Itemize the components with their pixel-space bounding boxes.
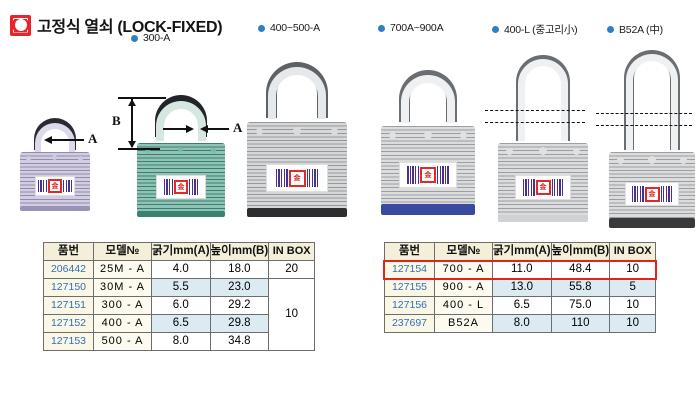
table-row[interactable]: 127155900 - A13.055.85 [385, 279, 656, 297]
plate-bars [407, 166, 419, 183]
plate-bars [276, 169, 288, 188]
rivet [573, 148, 580, 155]
col-header-model: 모델№ [94, 243, 152, 261]
cell-thickness: 8.0 [493, 315, 552, 333]
cell-part-no: 127152 [44, 315, 94, 333]
brand-plate: 金 [266, 164, 328, 192]
dim-line-a1 [49, 139, 84, 141]
table-row[interactable]: 20644225M - A4.018.020 [44, 261, 315, 279]
specs-table-left: 품번 모델№ 굵기mm(A) 높이mm(B) IN BOX 20644225M … [43, 242, 315, 351]
rivet [506, 148, 513, 155]
dim-arrow-a1 [44, 136, 52, 144]
cell-part-no: 127151 [44, 297, 94, 315]
plate-bars [307, 169, 319, 188]
cell-height: 48.4 [551, 261, 610, 279]
brand-emblem-icon: 金 [536, 180, 551, 195]
cell-thickness: 6.0 [152, 297, 211, 315]
dim-line-b [131, 99, 133, 147]
dim-tick-top-b [118, 97, 166, 99]
bullet-dot-icon [131, 35, 138, 42]
cell-in-box: 5 [610, 279, 656, 297]
lock-base [609, 218, 695, 228]
brand-plate: 金 [35, 176, 75, 196]
page-title: 고정식 열쇠 (LOCK-FIXED) [37, 13, 222, 37]
padlock-image-green: 金 [131, 95, 231, 230]
shackle-highlight [518, 59, 568, 141]
table-row[interactable]: 127156400 - L6.575.010 [385, 297, 656, 315]
cell-part-no: 127150 [44, 279, 94, 297]
cell-model: B52A [435, 315, 493, 333]
cell-model: 400 - A [94, 315, 152, 333]
plate-bars [164, 179, 173, 195]
cell-height: 23.0 [210, 279, 269, 297]
cell-thickness: 5.5 [152, 279, 211, 297]
cell-in-box: 10 [610, 297, 656, 315]
break-line-upper-b52a [596, 113, 692, 114]
lock-base [247, 208, 347, 217]
col-header-model: 모델№ [435, 243, 493, 261]
cell-thickness: 4.0 [152, 261, 211, 279]
rivet [331, 128, 338, 135]
table-row[interactable]: 127154700 - A11.048.410 [385, 261, 656, 279]
cell-part-no: 237697 [385, 315, 435, 333]
col-header-thickness: 굵기mm(A) [493, 243, 552, 261]
rivet [460, 132, 467, 139]
cell-thickness: 8.0 [152, 333, 211, 351]
table-row[interactable]: 237697B52A8.011010 [385, 315, 656, 333]
plate-bars [189, 179, 198, 195]
cell-model: 25M - A [94, 261, 152, 279]
dim-label-b: B [112, 113, 121, 129]
cell-thickness: 11.0 [493, 261, 552, 279]
table-body: 127154700 - A11.048.410127155900 - A13.0… [385, 261, 656, 333]
bullet-dot-icon [378, 25, 385, 32]
dim-label-a1: A [88, 131, 97, 147]
cell-model: 900 - A [435, 279, 493, 297]
cell-height: 29.2 [210, 297, 269, 315]
dim-arrow-a2-right [186, 125, 194, 133]
group-label-text: 300-A [143, 32, 170, 44]
cell-part-no: 127155 [385, 279, 435, 297]
cell-in-box: 10 [610, 315, 656, 333]
plate-bars [632, 186, 644, 202]
bullet-dot-icon [607, 26, 614, 33]
rivet [648, 156, 656, 164]
table-row[interactable]: 12715030M - A5.523.010 [44, 279, 315, 297]
cell-part-no: 127154 [385, 261, 435, 279]
break-line-lower-b52a [596, 125, 692, 126]
cell-part-no: 206442 [44, 261, 94, 279]
group-label-text: 400~500-A [270, 22, 320, 34]
lock-base [498, 215, 588, 222]
lock-base [20, 206, 90, 211]
dim-line-a2-right [205, 128, 229, 130]
padlock-image-700a-900a: 金 [378, 70, 478, 230]
lock-body: 金 [498, 143, 588, 217]
rivet [539, 147, 547, 155]
dim-arrow-a2-left [200, 125, 208, 133]
shackle-highlight [268, 67, 326, 119]
lock-body: 金 [381, 126, 475, 206]
table-header-row: 품번 모델№ 굵기mm(A) 높이mm(B) IN BOX [44, 243, 315, 261]
cell-part-no: 127153 [44, 333, 94, 351]
dim-label-a2: A [233, 120, 242, 136]
rivet [389, 132, 396, 139]
col-header-height: 높이mm(B) [551, 243, 610, 261]
cell-model: 300 - A [94, 297, 152, 315]
cell-thickness: 6.5 [152, 315, 211, 333]
rivet [211, 148, 216, 153]
rivet [256, 128, 263, 135]
catalog-page: 고정식 열쇠 (LOCK-FIXED) 300-A 400~500-A 700A… [0, 0, 700, 400]
brand-emblem-icon: 金 [289, 170, 306, 187]
lock-body: 金 [137, 143, 225, 213]
brand-logo-icon [10, 15, 31, 36]
plate-bars [38, 180, 47, 193]
lock-body: 金 [247, 122, 347, 210]
cell-height: 55.8 [551, 279, 610, 297]
table-body: 20644225M - A4.018.02012715030M - A5.523… [44, 261, 315, 351]
brand-plate: 金 [625, 182, 679, 206]
shackle-highlight [401, 75, 455, 123]
col-header-part-no: 품번 [44, 243, 94, 261]
cell-model: 400 - L [435, 297, 493, 315]
padlock-image-400l: 金 [495, 55, 591, 230]
plate-bars [552, 179, 564, 196]
rivet [617, 157, 624, 164]
padlock-image-b52a: 金 [606, 50, 698, 232]
dim-tick-bottom-b [118, 148, 160, 150]
group-label-300a: 300-A [131, 32, 170, 44]
lock-body: 金 [20, 152, 90, 208]
group-label-text: 700A~900A [390, 22, 443, 34]
shackle-highlight [626, 54, 678, 150]
cell-model: 700 - A [435, 261, 493, 279]
cell-height: 110 [551, 315, 610, 333]
rivet [78, 156, 83, 161]
cell-part-no: 127156 [385, 297, 435, 315]
page-header: 고정식 열쇠 (LOCK-FIXED) [10, 13, 222, 37]
cell-in-box: 20 [269, 261, 315, 279]
group-label-400-500a: 400~500-A [258, 22, 320, 34]
brand-plate: 金 [399, 162, 457, 188]
cell-height: 34.8 [210, 333, 269, 351]
plate-bars [437, 166, 449, 183]
lock-body: 金 [609, 152, 695, 220]
cell-in-box: 10 [610, 261, 656, 279]
plate-bars [63, 180, 72, 193]
brand-emblem-icon: 金 [420, 167, 436, 183]
cell-model: 30M - A [94, 279, 152, 297]
cell-height: 18.0 [210, 261, 269, 279]
padlock-image-small-lavender: 金 [14, 118, 96, 228]
dim-arrow-b-down [128, 141, 136, 148]
group-label-text: B52A (中) [619, 22, 663, 37]
brand-plate: 金 [156, 175, 206, 199]
col-header-in-box: IN BOX [610, 243, 656, 261]
table-header-row: 품번 모델№ 굵기mm(A) 높이mm(B) IN BOX [385, 243, 656, 261]
bullet-dot-icon [492, 26, 499, 33]
brand-plate: 金 [515, 175, 571, 200]
plate-bars [661, 186, 673, 202]
break-line-upper-400l [485, 110, 585, 111]
rivet [52, 155, 57, 160]
brand-emblem-icon: 金 [174, 180, 188, 194]
cell-in-box: 10 [269, 279, 315, 351]
col-header-in-box: IN BOX [269, 243, 315, 261]
cell-thickness: 13.0 [493, 279, 552, 297]
specs-table-right: 품번 모델№ 굵기mm(A) 높이mm(B) IN BOX 127154700 … [384, 242, 656, 333]
break-line-lower-400l [485, 122, 585, 123]
rivet [26, 156, 31, 161]
cell-thickness: 6.5 [493, 297, 552, 315]
cell-height: 29.8 [210, 315, 269, 333]
rivet [178, 147, 183, 152]
rivet [424, 131, 432, 139]
group-label-700a-900a: 700A~900A [378, 22, 443, 34]
rivet [680, 157, 687, 164]
lock-base [137, 211, 225, 217]
col-header-height: 높이mm(B) [210, 243, 269, 261]
dim-arrow-b-up [128, 99, 136, 106]
lock-base [381, 204, 475, 215]
rivet [293, 127, 301, 135]
brand-emblem-icon: 金 [48, 179, 62, 193]
plate-bars [523, 179, 535, 196]
group-label-text: 400-L (중고리小) [504, 22, 577, 37]
col-header-part-no: 품번 [385, 243, 435, 261]
padlock-image-large-silver: 金 [243, 62, 351, 230]
group-label-b52a: B52A (中) [607, 22, 663, 37]
cell-model: 500 - A [94, 333, 152, 351]
group-label-400l: 400-L (중고리小) [492, 22, 577, 37]
cell-height: 75.0 [551, 297, 610, 315]
brand-emblem-icon: 金 [645, 187, 660, 202]
bullet-dot-icon [258, 25, 265, 32]
col-header-thickness: 굵기mm(A) [152, 243, 211, 261]
